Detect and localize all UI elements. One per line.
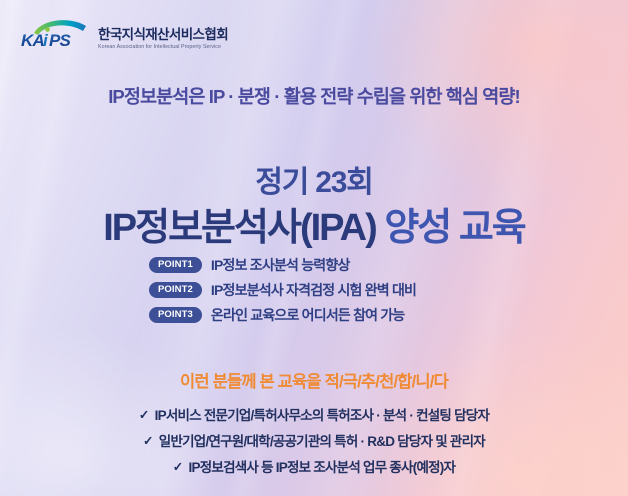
- point-item: POINT1 IP정보 조사분석 능력향상: [149, 255, 479, 275]
- recommend-heading: 이런 분들께 본 교육을 적/극/추/천/합/니/다: [0, 368, 628, 392]
- audience-label: IP정보검색사 등 IP정보 조사분석 업무 종사(예정)자: [188, 456, 455, 476]
- points-list: POINT1 IP정보 조사분석 능력향상 POINT2 IP정보분석사 자격검…: [0, 255, 628, 325]
- point-badge: POINT2: [149, 282, 202, 298]
- kaips-logo-icon: KA i PS: [20, 17, 90, 51]
- check-icon: ✓: [139, 407, 149, 422]
- audience-item: ✓ IP정보검색사 등 IP정보 조사분석 업무 종사(예정)자: [173, 456, 455, 476]
- point-item: POINT3 온라인 교육으로 어디서든 참여 가능: [149, 305, 479, 325]
- tagline: IP정보분석은 IP · 분쟁 · 활용 전략 수립을 위한 핵심 역량!: [0, 83, 628, 109]
- audience-list: ✓ IP서비스 전문기업/특허사무소의 특허조사 · 분석 · 컨설팅 담당자 …: [0, 404, 628, 476]
- point-badge: POINT3: [149, 307, 202, 323]
- check-icon: ✓: [173, 459, 183, 474]
- check-icon: ✓: [143, 433, 153, 448]
- audience-label: 일반기업/연구원/대학/공공기관의 특허 · R&D 담당자 및 관리자: [159, 430, 485, 450]
- point-label: IP정보분석사 자격검정 시험 완벽 대비: [211, 280, 416, 300]
- page-title-part1: IP정보분석사(IPA): [103, 207, 376, 249]
- kaips-logo[interactable]: KA i PS 한국지식재산서비스협회 Korean Association f…: [20, 17, 228, 51]
- promo-banner: KA i PS 한국지식재산서비스협회 Korean Association f…: [0, 0, 628, 496]
- svg-text:PS: PS: [49, 31, 72, 50]
- page-title-part2: 양성 교육: [376, 207, 525, 249]
- session-number: 정기 23회: [0, 157, 628, 201]
- point-label: 온라인 교육으로 어디서든 참여 가능: [211, 305, 405, 325]
- audience-item: ✓ 일반기업/연구원/대학/공공기관의 특허 · R&D 담당자 및 관리자: [143, 430, 485, 450]
- audience-label: IP서비스 전문기업/특허사무소의 특허조사 · 분석 · 컨설팅 담당자: [155, 404, 490, 424]
- kaips-logo-text: 한국지식재산서비스협회 Korean Association for Intel…: [98, 28, 228, 51]
- point-item: POINT2 IP정보분석사 자격검정 시험 완벽 대비: [149, 280, 479, 300]
- point-label: IP정보 조사분석 능력향상: [211, 255, 350, 275]
- association-name-english: Korean Association for Intellectual Prop…: [98, 44, 231, 50]
- page-title: IP정보분석사(IPA) 양성 교육: [0, 196, 628, 251]
- svg-text:KA: KA: [21, 31, 44, 50]
- association-name-korean: 한국지식재산서비스협회: [98, 28, 228, 42]
- point-badge: POINT1: [149, 257, 202, 273]
- audience-item: ✓ IP서비스 전문기업/특허사무소의 특허조사 · 분석 · 컨설팅 담당자: [139, 404, 489, 424]
